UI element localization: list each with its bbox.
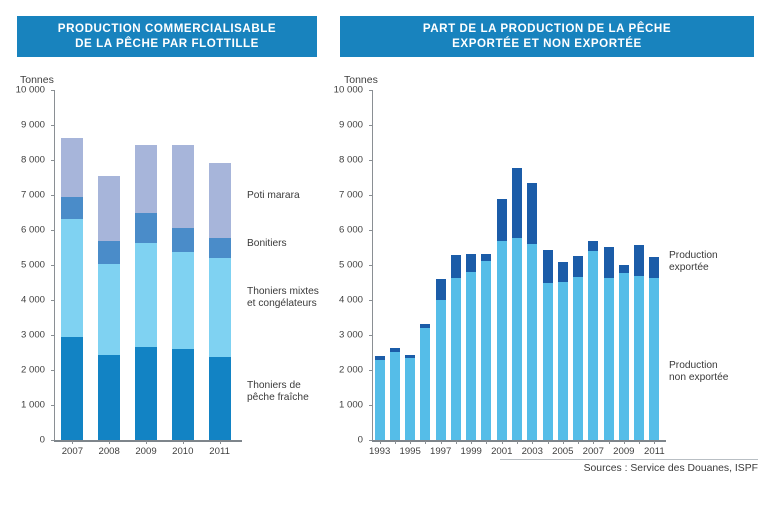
bar-segment — [619, 273, 629, 440]
bar-segment — [649, 257, 659, 278]
x-axis-tick-mark — [395, 441, 396, 444]
bar-segment — [588, 251, 598, 440]
bar-segment — [135, 347, 157, 440]
bar-segment — [436, 300, 446, 440]
y-axis-tick-label: 3 000 — [21, 330, 49, 341]
legend-label: Poti marara — [247, 190, 300, 202]
bar-segment — [390, 352, 400, 440]
panel-title-right-line2: EXPORTÉE ET NON EXPORTÉE — [423, 37, 671, 52]
x-axis-tick-mark — [624, 441, 625, 444]
bar-segment — [98, 241, 120, 264]
x-axis-tick-mark — [578, 441, 579, 444]
panel-title-right: PART DE LA PRODUCTION DE LA PÊCHE EXPORT… — [340, 16, 754, 57]
bar-1998[interactable] — [451, 90, 461, 440]
y-axis-tick-mark — [51, 335, 54, 336]
bar-segment — [98, 176, 120, 241]
bar-segment — [135, 145, 157, 213]
y-axis-tick-mark — [51, 230, 54, 231]
bar-segment — [573, 256, 583, 277]
y-axis-tick-label: 10 000 — [16, 85, 49, 96]
x-axis-tick-mark — [654, 441, 655, 444]
x-axis-tick-label: 2011 — [209, 446, 230, 457]
chart-production-exportee: Tonnes 01 0002 0003 0004 0005 0006 0007 … — [332, 68, 764, 468]
bar-segment — [481, 254, 491, 261]
x-axis-tick-label: 2009 — [135, 446, 156, 457]
x-axis-tick-mark — [486, 441, 487, 444]
chart-production-par-flottille: Tonnes 01 0002 0003 0004 0005 0006 0007 … — [8, 68, 328, 468]
y-axis-tick-mark — [51, 90, 54, 91]
plot-area-left: 01 0002 0003 0004 0005 0006 0007 0008 00… — [54, 90, 238, 440]
bar-2008[interactable] — [604, 90, 614, 440]
bar-2011[interactable] — [209, 90, 231, 440]
bar-2009[interactable] — [619, 90, 629, 440]
x-axis-tick-mark — [425, 441, 426, 444]
x-axis-tick-label: 2010 — [172, 446, 193, 457]
bar-segment — [527, 244, 537, 440]
legend-label: Production non exportée — [669, 360, 728, 385]
bar-segment — [61, 337, 83, 440]
bar-segment — [209, 163, 231, 238]
x-axis-tick-mark — [441, 441, 442, 444]
y-axis-tick-label: 8 000 — [339, 155, 367, 166]
x-axis-tick-mark — [532, 441, 533, 444]
bar-segment — [375, 360, 385, 440]
bar-2011[interactable] — [649, 90, 659, 440]
bar-segment — [135, 243, 157, 347]
bar-segment — [436, 279, 446, 300]
x-axis-tick-mark — [548, 441, 549, 444]
y-axis-tick-label: 0 — [40, 435, 49, 446]
bar-segment — [405, 358, 415, 440]
bar-segment — [649, 278, 659, 440]
x-axis-tick-mark — [563, 441, 564, 444]
y-axis-tick-mark — [51, 370, 54, 371]
y-axis-tick-label: 6 000 — [21, 225, 49, 236]
y-axis-tick-label: 7 000 — [339, 190, 367, 201]
bar-2006[interactable] — [573, 90, 583, 440]
bar-segment — [497, 199, 507, 240]
y-axis-tick-mark — [369, 335, 372, 336]
legend-label: Production exportée — [669, 250, 718, 275]
bar-segment — [172, 228, 194, 252]
y-axis-tick-label: 4 000 — [21, 295, 49, 306]
bar-segment — [543, 283, 553, 441]
bar-2007[interactable] — [588, 90, 598, 440]
bar-segment — [634, 245, 644, 276]
y-axis-tick-mark — [51, 300, 54, 301]
x-axis-tick-label: 1997 — [430, 446, 451, 457]
y-axis-tick-mark — [51, 160, 54, 161]
bar-segment — [466, 254, 476, 272]
x-axis-tick-label: 2009 — [613, 446, 634, 457]
x-axis-line — [54, 440, 242, 442]
x-axis-tick-mark — [456, 441, 457, 444]
bar-2004[interactable] — [543, 90, 553, 440]
legend-item[interactable]: Thoniers de pêche fraîche — [240, 380, 309, 405]
bar-segment — [172, 252, 194, 349]
y-axis-tick-mark — [51, 265, 54, 266]
x-axis-tick-label: 2001 — [491, 446, 512, 457]
y-axis-tick-label: 4 000 — [339, 295, 367, 306]
x-axis-tick-mark — [517, 441, 518, 444]
bar-segment — [405, 355, 415, 358]
y-axis-tick-mark — [369, 265, 372, 266]
x-axis-tick-label: 2011 — [644, 446, 665, 457]
legend-item[interactable]: Bonitiers — [240, 238, 287, 250]
legend-label: Thoniers de pêche fraîche — [247, 380, 309, 405]
x-axis-tick-mark — [109, 441, 110, 444]
bar-segment — [420, 324, 430, 328]
x-axis-tick-mark — [639, 441, 640, 444]
bar-segment — [588, 241, 598, 251]
bar-segment — [466, 272, 476, 440]
bar-2005[interactable] — [558, 90, 568, 440]
y-axis-tick-mark — [369, 90, 372, 91]
x-axis-tick-label: 2007 — [62, 446, 83, 457]
y-axis-tick-label: 6 000 — [339, 225, 367, 236]
bar-segment — [375, 356, 385, 360]
y-axis-tick-label: 5 000 — [21, 260, 49, 271]
bar-segment — [634, 276, 644, 441]
y-axis-tick-mark — [51, 125, 54, 126]
y-axis-tick-mark — [369, 125, 372, 126]
panel-title-left-line2: DE LA PÊCHE PAR FLOTTILLE — [58, 37, 276, 52]
bar-segment — [558, 262, 568, 282]
y-axis-tick-label: 0 — [358, 435, 367, 446]
legend-item[interactable]: Production exportée — [662, 250, 718, 275]
y-axis-tick-label: 1 000 — [21, 400, 49, 411]
bar-2007[interactable] — [61, 90, 83, 440]
y-axis-line — [372, 90, 373, 440]
bar-segment — [172, 349, 194, 440]
bar-segment — [451, 278, 461, 440]
y-axis-tick-mark — [369, 195, 372, 196]
bar-2000[interactable] — [481, 90, 491, 440]
bar-segment — [209, 238, 231, 258]
legend-label: Thoniers mixtes et congélateurs — [247, 286, 319, 311]
y-axis-tick-mark — [369, 230, 372, 231]
x-axis-tick-mark — [380, 441, 381, 444]
bar-segment — [451, 255, 461, 278]
bar-segment — [527, 183, 537, 244]
bar-segment — [98, 264, 120, 355]
bar-segment — [172, 145, 194, 227]
x-axis-tick-mark — [471, 441, 472, 444]
bar-1999[interactable] — [466, 90, 476, 440]
bar-1997[interactable] — [436, 90, 446, 440]
bar-segment — [98, 355, 120, 440]
y-axis-tick-label: 10 000 — [334, 85, 367, 96]
y-axis-tick-label: 9 000 — [339, 120, 367, 131]
y-axis-tick-mark — [369, 300, 372, 301]
x-axis-tick-label: 1995 — [399, 446, 420, 457]
bar-segment — [512, 168, 522, 238]
bar-2003[interactable] — [527, 90, 537, 440]
bar-segment — [209, 357, 231, 440]
bar-segment — [619, 265, 629, 273]
bar-1994[interactable] — [390, 90, 400, 440]
y-axis-tick-mark — [369, 160, 372, 161]
x-axis-tick-label: 1993 — [369, 446, 390, 457]
panel-title-right-line1: PART DE LA PRODUCTION DE LA PÊCHE — [423, 22, 671, 37]
bar-1995[interactable] — [405, 90, 415, 440]
bar-segment — [209, 258, 231, 357]
legend-label: Bonitiers — [247, 238, 287, 250]
y-axis-tick-label: 9 000 — [21, 120, 49, 131]
panel-title-left-line1: PRODUCTION COMMERCIALISABLE — [58, 22, 276, 37]
panel-title-left: PRODUCTION COMMERCIALISABLE DE LA PÊCHE … — [17, 16, 317, 57]
x-axis-tick-label: 1999 — [461, 446, 482, 457]
x-axis-tick-label: 2008 — [99, 446, 120, 457]
y-axis-tick-mark — [51, 440, 54, 441]
bar-segment — [543, 250, 553, 282]
x-axis-tick-mark — [220, 441, 221, 444]
x-axis-tick-mark — [410, 441, 411, 444]
y-axis-tick-mark — [51, 405, 54, 406]
legend-item[interactable]: Production non exportée — [662, 360, 728, 385]
bar-segment — [604, 278, 614, 440]
bar-2008[interactable] — [98, 90, 120, 440]
bar-segment — [512, 238, 522, 440]
x-axis-line — [372, 440, 666, 442]
bar-segment — [61, 138, 83, 196]
y-axis-tick-mark — [369, 370, 372, 371]
bar-2009[interactable] — [135, 90, 157, 440]
bar-segment — [61, 197, 83, 219]
legend-item[interactable]: Thoniers mixtes et congélateurs — [240, 286, 319, 311]
bar-segment — [558, 282, 568, 440]
bar-segment — [573, 277, 583, 440]
bar-1996[interactable] — [420, 90, 430, 440]
x-axis-tick-label: 2003 — [522, 446, 543, 457]
x-axis-tick-mark — [609, 441, 610, 444]
infographic-page: PRODUCTION COMMERCIALISABLE DE LA PÊCHE … — [0, 0, 769, 505]
x-axis-tick-mark — [593, 441, 594, 444]
bar-1993[interactable] — [375, 90, 385, 440]
x-axis-tick-mark — [72, 441, 73, 444]
x-axis-tick-mark — [502, 441, 503, 444]
y-axis-tick-mark — [51, 195, 54, 196]
x-axis-tick-mark — [146, 441, 147, 444]
y-axis-tick-label: 2 000 — [339, 365, 367, 376]
y-axis-tick-label: 3 000 — [339, 330, 367, 341]
bar-segment — [497, 241, 507, 441]
source-note: Sources : Service des Douanes, ISPF — [500, 463, 758, 474]
y-axis-tick-mark — [369, 440, 372, 441]
bar-2002[interactable] — [512, 90, 522, 440]
bar-segment — [604, 247, 614, 279]
x-axis-tick-mark — [183, 441, 184, 444]
plot-area-right: 01 0002 0003 0004 0005 0006 0007 0008 00… — [372, 90, 662, 440]
y-axis-tick-mark — [369, 405, 372, 406]
y-axis-tick-label: 1 000 — [339, 400, 367, 411]
legend-item[interactable]: Poti marara — [240, 190, 300, 202]
y-axis-tick-label: 5 000 — [339, 260, 367, 271]
source-divider — [500, 459, 758, 460]
bar-segment — [135, 213, 157, 243]
x-axis-tick-label: 2007 — [583, 446, 604, 457]
y-axis-line — [54, 90, 55, 440]
bar-segment — [390, 348, 400, 352]
y-axis-tick-label: 8 000 — [21, 155, 49, 166]
bar-segment — [481, 261, 491, 440]
bar-2001[interactable] — [497, 90, 507, 440]
bar-2010[interactable] — [634, 90, 644, 440]
bar-segment — [420, 328, 430, 440]
x-axis-tick-label: 2005 — [552, 446, 573, 457]
y-axis-tick-label: 2 000 — [21, 365, 49, 376]
bar-2010[interactable] — [172, 90, 194, 440]
y-axis-tick-label: 7 000 — [21, 190, 49, 201]
bar-segment — [61, 219, 83, 337]
